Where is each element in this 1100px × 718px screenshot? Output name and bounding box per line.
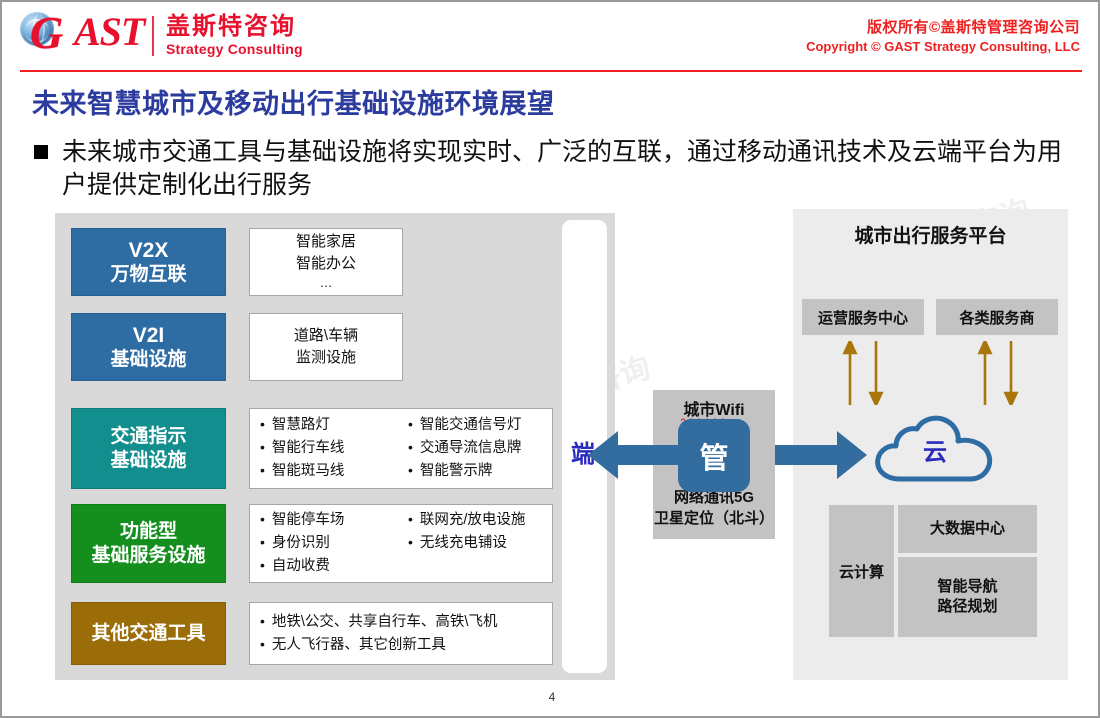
list-item-label: 智能交通信号灯	[420, 414, 522, 437]
logo-letter-g: G	[30, 10, 63, 56]
list-item-label: 自动收费	[272, 555, 330, 578]
list-item: •地铁\公交、共享自行车、高铁\飞机	[256, 611, 552, 634]
list-item: •交通导流信息牌	[404, 437, 552, 460]
arrow-pair-right	[977, 341, 1025, 410]
logo-english-name: Strategy Consulting	[166, 41, 303, 58]
detail-column: •联网充/放电设施 •无线充电铺设	[404, 509, 552, 578]
row-traffic-signage: 交通指示 基础设施 •智慧路灯 •智能行车线 •智能斑马线 •智能交通信号灯 •…	[71, 408, 553, 489]
detail-line: 智能家居	[296, 231, 356, 253]
list-item-label: 智能警示牌	[420, 460, 493, 483]
cloud-computing-group: 云计算 大数据中心 智能导航 路径规划	[829, 505, 1037, 637]
service-operations-center[interactable]: 运营服务中心	[802, 299, 924, 335]
category-line2: 基础服务设施	[91, 544, 205, 567]
subtitle-block: 未来城市交通工具与基础设施将实现实时、广泛的互联，通过移动通讯技术及云端平台为用…	[34, 136, 1074, 202]
cloud-computing-label[interactable]: 云计算	[829, 505, 894, 637]
detail-column: •智慧路灯 •智能行车线 •智能斑马线	[256, 414, 404, 483]
cloud-label: 云	[870, 432, 1000, 467]
detail-line: 道路\车辆	[294, 325, 358, 347]
detail-traffic-signage: •智慧路灯 •智能行车线 •智能斑马线 •智能交通信号灯 •交通导流信息牌 •智…	[249, 408, 553, 489]
square-bullet-icon	[34, 145, 48, 159]
service-label: 各类服务商	[959, 307, 1034, 328]
bullet-dot-icon: •	[260, 532, 265, 553]
logo-divider	[152, 16, 154, 56]
detail-column: •智能交通信号灯 •交通导流信息牌 •智能警示牌	[404, 414, 552, 483]
list-item-label: 交通导流信息牌	[420, 437, 522, 460]
list-item: •自动收费	[256, 555, 404, 578]
list-item: •智能行车线	[256, 437, 404, 460]
detail-other-transport: •地铁\公交、共享自行车、高铁\飞机 •无人飞行器、其它创新工具	[249, 602, 553, 665]
list-item: •智能警示牌	[404, 460, 552, 483]
detail-line: 监测设施	[296, 347, 356, 369]
category-line1: V2I	[133, 323, 165, 349]
category-line1: 交通指示	[110, 425, 186, 448]
copyright-english: Copyright © GAST Strategy Consulting, LL…	[806, 39, 1080, 54]
list-item-label: 无人飞行器、其它创新工具	[272, 634, 446, 657]
detail-column: •地铁\公交、共享自行车、高铁\飞机 •无人飞行器、其它创新工具	[256, 611, 552, 657]
list-item: •无人飞行器、其它创新工具	[256, 634, 552, 657]
category-line2: 基础设施	[110, 449, 186, 472]
service-label: 运营服务中心	[818, 307, 908, 328]
arrow-left-icon	[588, 427, 680, 488]
navigation-line1: 智能导航	[937, 577, 997, 597]
page-title: 未来智慧城市及移动出行基础设施环境展望	[32, 82, 555, 121]
pipe-label: 管	[678, 419, 750, 492]
copyright-chinese: 版权所有©盖斯特管理咨询公司	[806, 16, 1080, 37]
list-item: •智能交通信号灯	[404, 414, 552, 437]
logo-letters-ast: AST	[74, 12, 144, 52]
list-item-label: 智能行车线	[272, 437, 345, 460]
bullet-dot-icon: •	[408, 437, 413, 458]
subtitle-text: 未来城市交通工具与基础设施将实现实时、广泛的互联，通过移动通讯技术及云端平台为用…	[62, 136, 1074, 202]
platform-title: 城市出行服务平台	[793, 221, 1068, 248]
logo-chinese-name: 盖斯特咨询	[166, 14, 303, 40]
row-other-transport: 其他交通工具 •地铁\公交、共享自行车、高铁\飞机 •无人飞行器、其它创新工具	[71, 602, 553, 665]
category-line2: 万物互联	[110, 263, 186, 286]
detail-v2x: 智能家居 智能办公 …	[249, 228, 403, 296]
big-data-center-cell[interactable]: 大数据中心	[898, 505, 1037, 553]
row-v2i: V2I 基础设施 道路\车辆 监测设施	[71, 313, 403, 381]
list-item: •智慧路灯	[256, 414, 404, 437]
header-rule	[20, 70, 1082, 72]
detail-line: 智能办公	[296, 253, 356, 275]
list-item: •身份识别	[256, 532, 404, 555]
bullet-dot-icon: •	[260, 611, 265, 632]
bullet-dot-icon: •	[408, 460, 413, 481]
network-tech-label: 网络通讯5G 卫星定位（北斗）	[647, 488, 781, 529]
category-line1: V2X	[129, 238, 169, 264]
category-v2x[interactable]: V2X 万物互联	[71, 228, 226, 296]
row-v2x: V2X 万物互联 智能家居 智能办公 …	[71, 228, 403, 296]
network-tech-line2: 卫星定位（北斗）	[647, 509, 781, 530]
detail-column: •智能停车场 •身份识别 •自动收费	[256, 509, 404, 578]
category-line1: 功能型	[120, 520, 177, 543]
arrow-right-icon	[775, 427, 867, 488]
bullet-dot-icon: •	[260, 634, 265, 655]
gast-logo: G AST 盖斯特咨询 Strategy Consulting	[20, 10, 303, 62]
category-functional-services[interactable]: 功能型 基础服务设施	[71, 504, 226, 583]
bullet-dot-icon: •	[260, 555, 265, 576]
bullet-dot-icon: •	[408, 532, 413, 553]
bullet-dot-icon: •	[260, 509, 265, 530]
category-line2: 基础设施	[110, 348, 186, 371]
list-item-label: 无线充电铺设	[420, 532, 507, 555]
list-item-label: 身份识别	[272, 532, 330, 555]
slide-header: G AST 盖斯特咨询 Strategy Consulting 版权所有©盖斯特…	[2, 2, 1100, 72]
bullet-dot-icon: •	[260, 437, 265, 458]
list-item-label: 联网充/放电设施	[420, 509, 526, 532]
row-functional-services: 功能型 基础服务设施 •智能停车场 •身份识别 •自动收费 •联网充/放电设施 …	[71, 504, 553, 583]
arrow-pair-left	[842, 341, 890, 410]
list-item-label: 智能斑马线	[272, 460, 345, 483]
bullet-dot-icon: •	[260, 414, 265, 435]
detail-v2i: 道路\车辆 监测设施	[249, 313, 403, 381]
cloud-computing-cells: 大数据中心 智能导航 路径规划	[898, 505, 1037, 637]
list-item-label: 智能停车场	[272, 509, 345, 532]
list-item: •无线充电铺设	[404, 532, 552, 555]
list-item: •联网充/放电设施	[404, 509, 552, 532]
smart-navigation-cell[interactable]: 智能导航 路径规划	[898, 557, 1037, 637]
list-item-label: 智慧路灯	[272, 414, 330, 437]
bullet-dot-icon: •	[408, 414, 413, 435]
detail-line: …	[320, 274, 333, 293]
category-v2i[interactable]: V2I 基础设施	[71, 313, 226, 381]
detail-functional-services: •智能停车场 •身份识别 •自动收费 •联网充/放电设施 •无线充电铺设	[249, 504, 553, 583]
category-other-transport[interactable]: 其他交通工具	[71, 602, 226, 665]
navigation-line2: 路径规划	[937, 597, 997, 617]
page-number: 4	[2, 690, 1100, 704]
list-item: •智能斑马线	[256, 460, 404, 483]
slide-root: G AST 盖斯特咨询 Strategy Consulting 版权所有©盖斯特…	[0, 0, 1100, 718]
copyright-block: 版权所有©盖斯特管理咨询公司 Copyright © GAST Strategy…	[806, 16, 1080, 54]
list-item: •智能停车场	[256, 509, 404, 532]
list-item-label: 地铁\公交、共享自行车、高铁\飞机	[272, 611, 498, 634]
category-traffic-signage[interactable]: 交通指示 基础设施	[71, 408, 226, 489]
category-line2: 其他交通工具	[91, 622, 205, 645]
bullet-dot-icon: •	[408, 509, 413, 530]
service-providers[interactable]: 各类服务商	[936, 299, 1058, 335]
bullet-dot-icon: •	[260, 460, 265, 481]
